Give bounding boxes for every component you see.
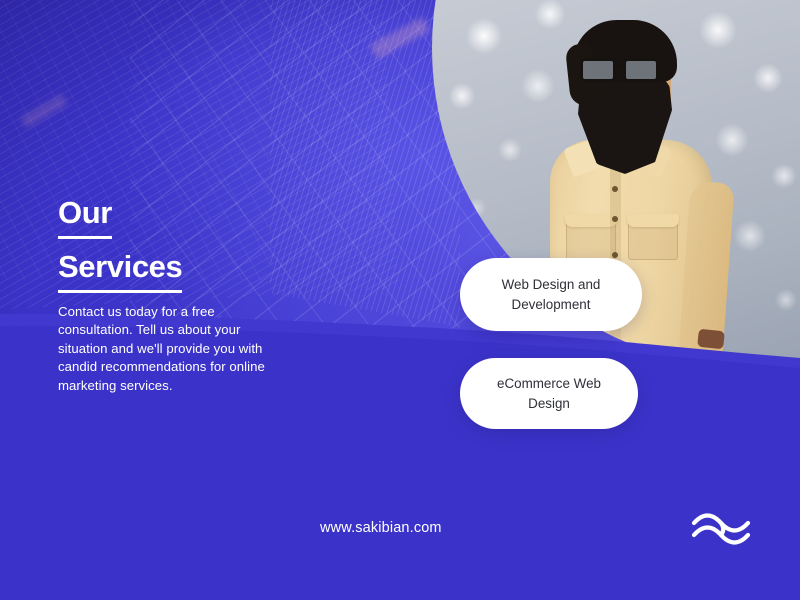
- portrait-shirt-button: [612, 252, 618, 258]
- heading-line-2: Services: [58, 246, 182, 293]
- service-card-ecommerce-web-design[interactable]: eCommerce Web Design: [460, 358, 638, 429]
- portrait-pocket-flap: [627, 214, 679, 227]
- slide-canvas: Our Services Contact us today for a free…: [0, 0, 800, 600]
- portrait-shirt-button: [612, 216, 618, 222]
- glasses-icon: [623, 58, 659, 82]
- wave-monogram-logo-icon: [690, 508, 752, 550]
- service-card-label: eCommerce Web Design: [486, 374, 612, 414]
- portrait-shirt-button: [612, 186, 618, 192]
- service-card-label: Web Design and Development: [486, 275, 616, 315]
- service-card-web-design-and-development[interactable]: Web Design and Development: [460, 258, 642, 331]
- glasses-bridge: [616, 64, 625, 67]
- page-title: Our Services: [58, 192, 182, 293]
- website-url[interactable]: www.sakibian.com: [320, 520, 442, 536]
- glasses-icon: [580, 58, 616, 82]
- body-paragraph: Contact us today for a free consultation…: [58, 303, 274, 395]
- heading-line-1: Our: [58, 192, 112, 239]
